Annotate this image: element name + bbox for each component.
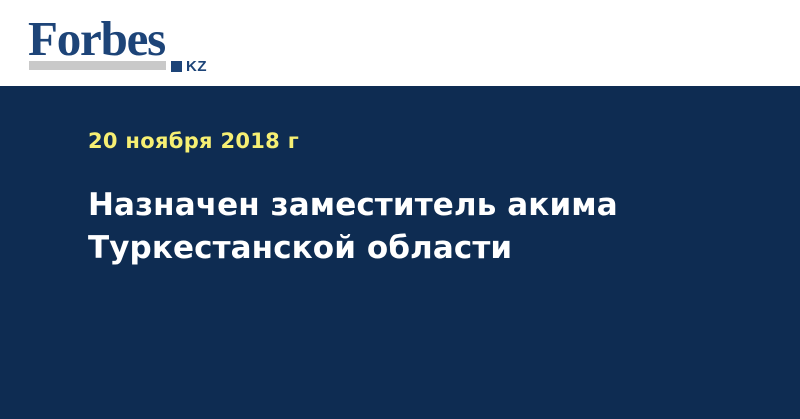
logo-wordmark: Forbes [28, 14, 165, 63]
site-header: Forbes KZ [0, 0, 800, 86]
logo-kz-group: KZ [171, 59, 207, 74]
logo-kz-label: KZ [186, 59, 207, 74]
forbes-kz-logo[interactable]: Forbes KZ [28, 14, 238, 76]
article-hero-page: Forbes KZ 20 ноября 2018 г Назначен заме… [0, 0, 800, 419]
article-date: 20 ноября 2018 г [88, 128, 299, 154]
article-title: Назначен заместитель акима Туркестанской… [88, 184, 688, 270]
blue-square-icon [171, 61, 182, 72]
logo-rule-divider [29, 61, 166, 70]
article-hero: 20 ноября 2018 г Назначен заместитель ак… [0, 86, 800, 419]
